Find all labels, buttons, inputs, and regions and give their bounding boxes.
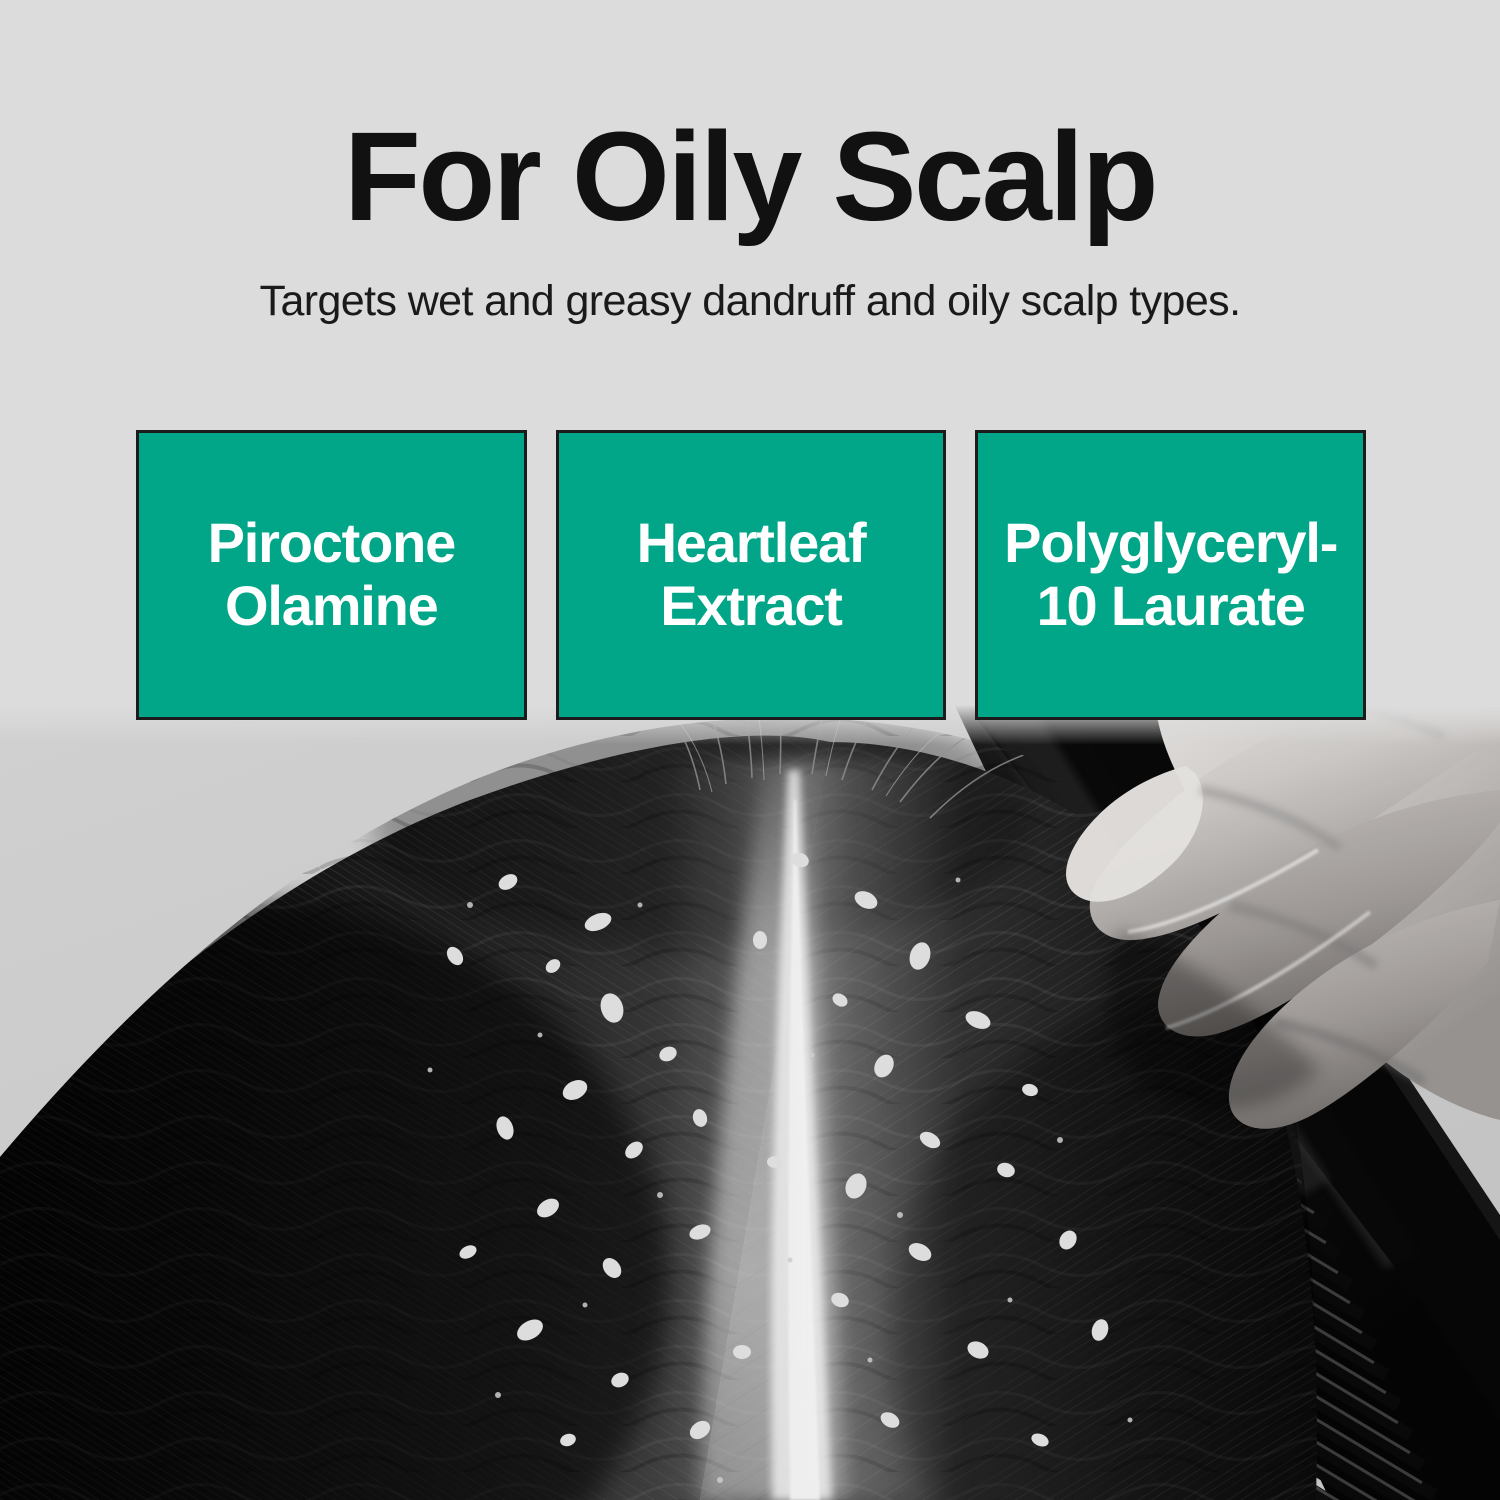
ingredient-badge-2: Heartleaf Extract bbox=[556, 430, 947, 720]
product-feature-banner: For Oily Scalp Targets wet and greasy da… bbox=[0, 0, 1500, 1500]
page-title: For Oily Scalp bbox=[0, 114, 1500, 240]
page-subtitle: Targets wet and greasy dandruff and oily… bbox=[0, 279, 1500, 324]
ingredient-badge-1: Piroctone Olamine bbox=[136, 430, 527, 720]
ingredient-label: Polyglyceryl- 10 Laurate bbox=[1004, 512, 1337, 637]
ingredient-label: Heartleaf Extract bbox=[637, 512, 866, 637]
ingredient-badge-row: Piroctone Olamine Heartleaf Extract Poly… bbox=[136, 430, 1366, 720]
ingredient-label: Piroctone Olamine bbox=[208, 512, 455, 637]
ingredient-badge-3: Polyglyceryl- 10 Laurate bbox=[975, 430, 1366, 720]
